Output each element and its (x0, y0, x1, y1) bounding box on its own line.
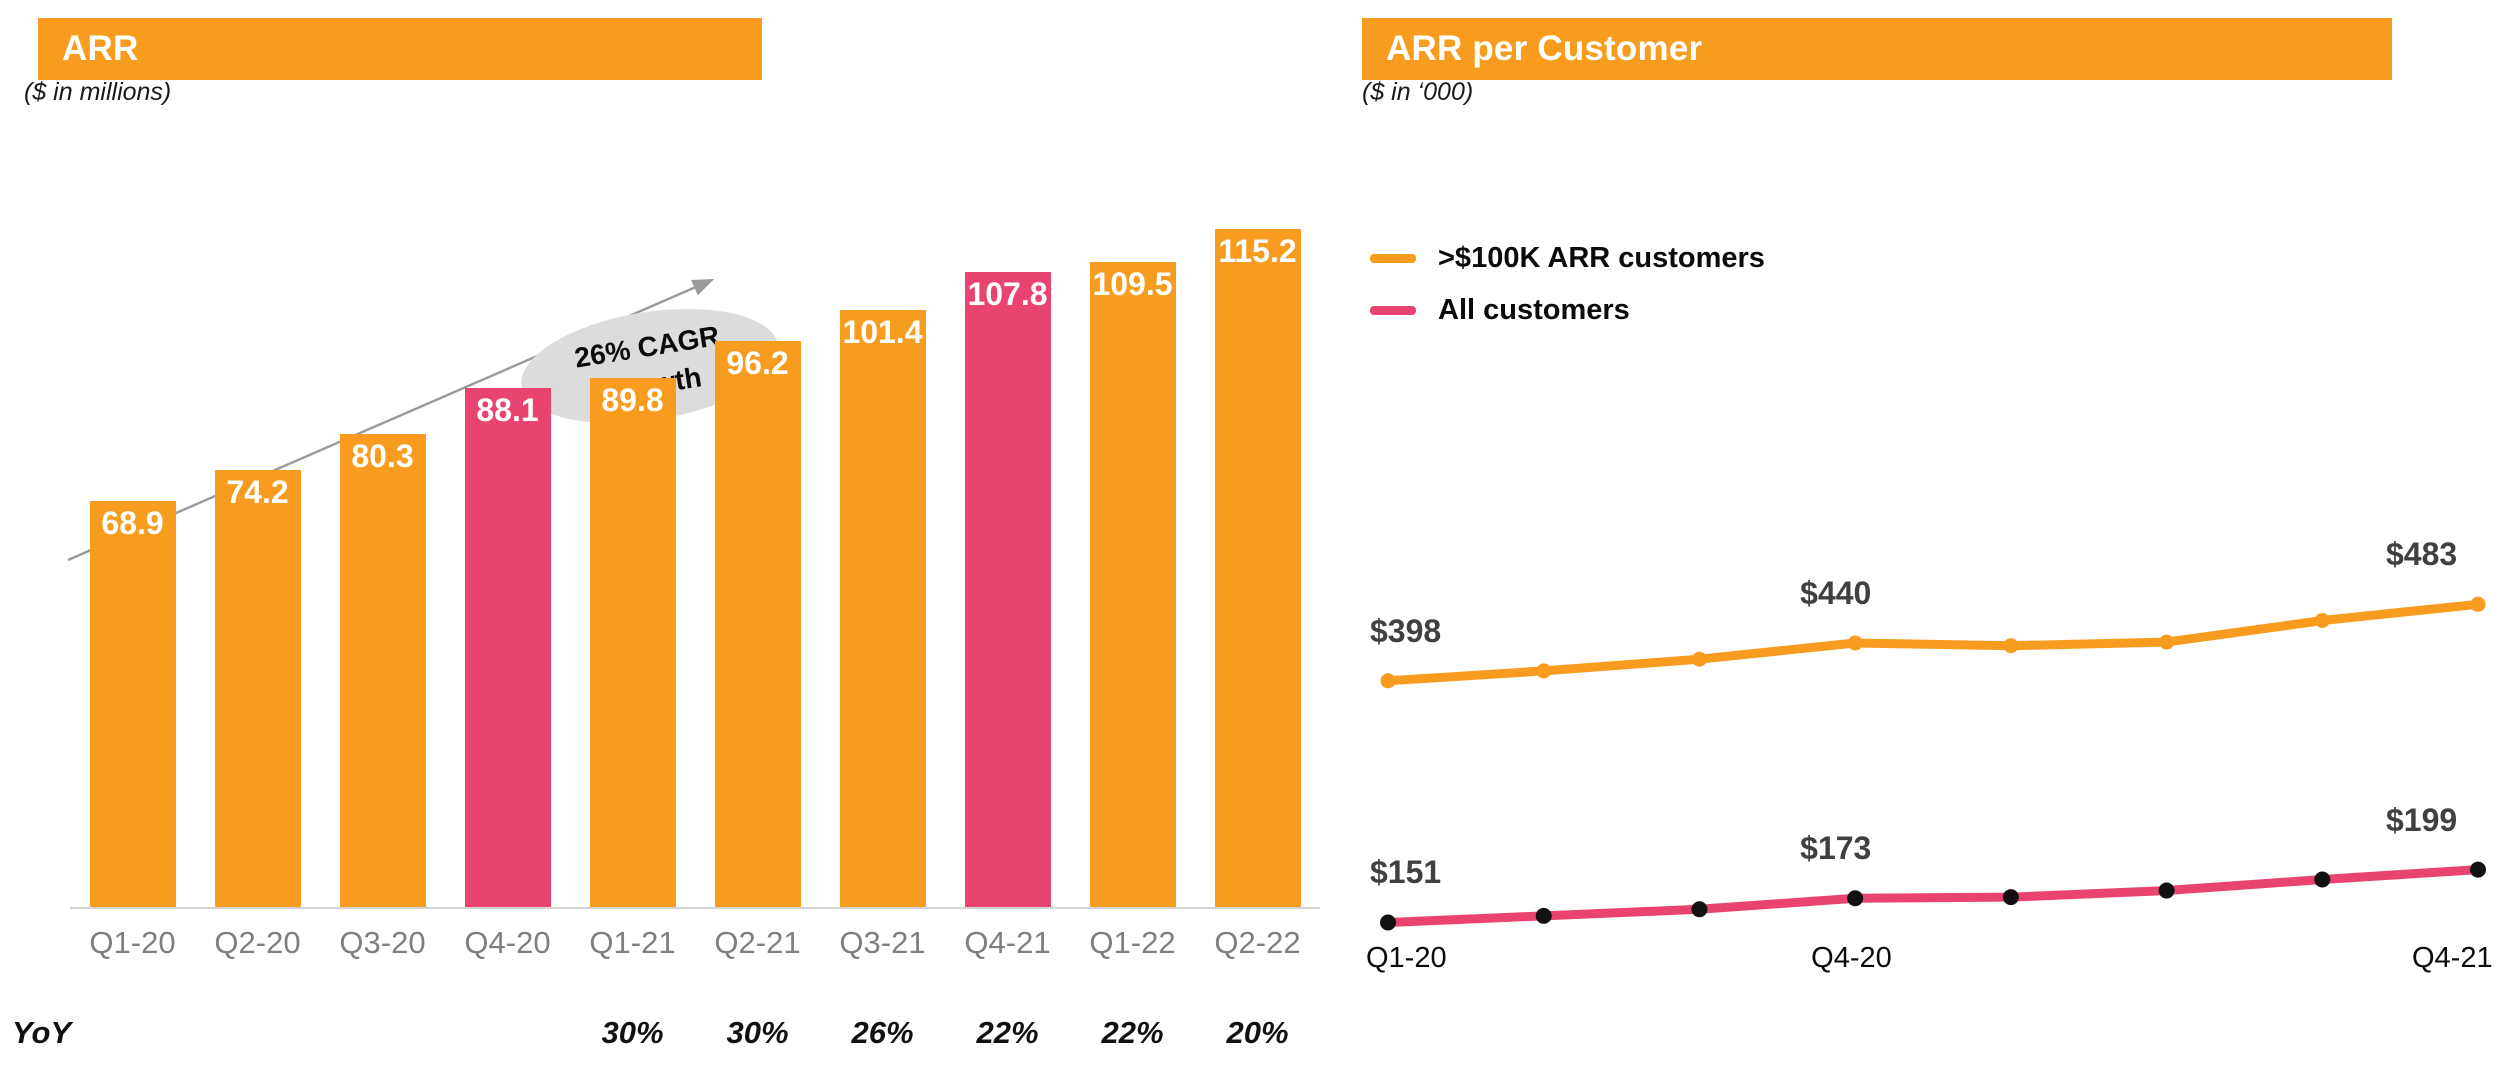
data-point-marker[interactable] (2470, 862, 2486, 878)
yoy-value (445, 1015, 570, 1051)
arr-per-customer-panel: ARR per Customer ($ in ‘000) >$100K ARR … (1340, 0, 2514, 1080)
arr-category-axis: Q1-20Q2-20Q3-20Q4-20Q1-21Q2-21Q3-21Q4-21… (70, 925, 1320, 961)
data-point-marker[interactable] (1536, 663, 1551, 678)
bar[interactable]: 80.3 (340, 434, 426, 907)
arr-title: ARR (38, 29, 138, 69)
bar-slot: 109.5 (1070, 130, 1195, 907)
yoy-row-title: YoY (12, 1015, 71, 1051)
bar[interactable]: 107.8 (965, 272, 1051, 907)
category-label-q3-20: Q3-20 (320, 925, 445, 961)
yoy-value: 30% (570, 1015, 695, 1051)
bar[interactable]: 101.4 (840, 310, 926, 907)
bar-slot: 80.3 (320, 130, 445, 907)
category-label-q2-21: Q2-21 (695, 925, 820, 961)
category-label-q4-21: Q4-21 (945, 925, 1070, 961)
data-point-marker[interactable] (2003, 638, 2018, 653)
data-point-label: $398 (1370, 613, 1441, 650)
arr-panel: ARR ($ in millions) 26% CAGR Growth 68.9… (0, 0, 1300, 1080)
data-point-marker[interactable] (1848, 636, 1863, 651)
arr-bars: 68.974.280.388.189.896.2101.4107.8109.51… (70, 130, 1320, 907)
bar-value-label: 74.2 (226, 476, 288, 508)
yoy-value (320, 1015, 445, 1051)
data-point-marker[interactable] (1692, 652, 1707, 667)
arr-plot-area: 68.974.280.388.189.896.2101.4107.8109.51… (40, 130, 1280, 920)
category-label-q1-21: Q1-21 (570, 925, 695, 961)
bar-slot: 96.2 (695, 130, 820, 907)
yoy-value: 30% (695, 1015, 820, 1051)
category-label-q2-22: Q2-22 (1195, 925, 1320, 961)
bar-slot: 115.2 (1195, 130, 1320, 907)
bar[interactable]: 74.2 (215, 470, 301, 907)
data-point-marker[interactable] (1847, 890, 1863, 906)
yoy-value: 22% (1070, 1015, 1195, 1051)
arr-per-customer-line-chart (1340, 0, 2514, 1080)
data-point-marker[interactable] (1380, 914, 1396, 930)
data-point-label: $173 (1800, 830, 1871, 867)
data-point-marker[interactable] (1691, 901, 1707, 917)
data-point-marker[interactable] (1536, 908, 1552, 924)
bar-value-label: 89.8 (601, 384, 663, 416)
data-point-marker[interactable] (2159, 635, 2174, 650)
bar[interactable]: 88.1 (465, 388, 551, 907)
bar-value-label: 96.2 (726, 347, 788, 379)
bar[interactable]: 109.5 (1090, 262, 1176, 907)
bar-value-label: 115.2 (1218, 235, 1296, 267)
data-point-marker[interactable] (2314, 872, 2330, 888)
bar-value-label: 80.3 (351, 440, 413, 472)
bar[interactable]: 96.2 (715, 341, 801, 907)
bar-value-label: 101.4 (842, 316, 922, 348)
data-point-label: $483 (2386, 536, 2457, 573)
yoy-values-row: 30%30%26%22%22%20% (70, 1015, 1320, 1051)
bar[interactable]: 115.2 (1215, 229, 1301, 907)
bar[interactable]: 68.9 (90, 501, 176, 907)
category-label-q1-22: Q1-22 (1070, 925, 1195, 961)
bar[interactable]: 89.8 (590, 378, 676, 907)
data-point-marker[interactable] (2159, 883, 2175, 899)
arr-bar-chart: 68.974.280.388.189.896.2101.4107.8109.51… (0, 130, 1300, 920)
line-category-label-q4-20: Q4-20 (1811, 942, 1892, 975)
bar-value-label: 88.1 (476, 394, 538, 426)
data-point-marker[interactable] (2003, 889, 2019, 905)
yoy-value: 20% (1195, 1015, 1320, 1051)
bar-value-label: 107.8 (967, 278, 1047, 310)
yoy-value (70, 1015, 195, 1051)
arr-header-banner: ARR (38, 18, 762, 80)
bar-slot: 101.4 (820, 130, 945, 907)
yoy-value: 26% (820, 1015, 945, 1051)
arr-axis-baseline (70, 907, 1320, 909)
category-label-q2-20: Q2-20 (195, 925, 320, 961)
bar-value-label: 109.5 (1092, 268, 1172, 300)
yoy-value (195, 1015, 320, 1051)
data-point-label: $151 (1370, 854, 1441, 891)
category-label-q4-20: Q4-20 (445, 925, 570, 961)
category-label-q3-21: Q3-21 (820, 925, 945, 961)
bar-slot: 68.9 (70, 130, 195, 907)
yoy-value: 22% (945, 1015, 1070, 1051)
bar-slot: 74.2 (195, 130, 320, 907)
arr-units-label: ($ in millions) (24, 78, 171, 107)
line-category-label-q1-20: Q1-20 (1366, 942, 1447, 975)
data-point-marker[interactable] (2315, 613, 2330, 628)
data-point-label: $199 (2386, 802, 2457, 839)
bar-slot: 89.8 (570, 130, 695, 907)
data-point-marker[interactable] (1381, 673, 1396, 688)
line-category-label-q4-21: Q4-21 (2412, 942, 2493, 975)
data-point-label: $440 (1800, 575, 1871, 612)
category-label-q1-20: Q1-20 (70, 925, 195, 961)
bar-slot: 88.1 (445, 130, 570, 907)
data-point-marker[interactable] (2471, 597, 2486, 612)
bar-value-label: 68.9 (101, 507, 163, 539)
bar-slot: 107.8 (945, 130, 1070, 907)
line-series-path (1388, 604, 2478, 681)
